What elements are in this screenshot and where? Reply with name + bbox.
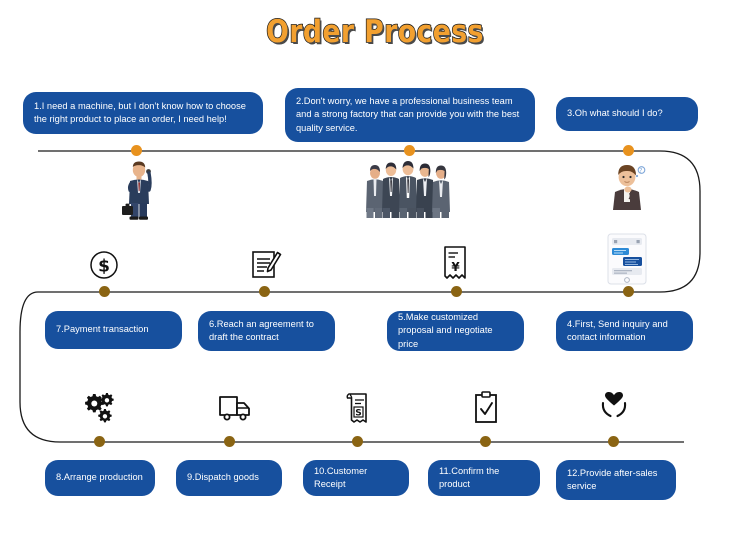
process-step-box-2[interactable]: 2.Don't worry, we have a professional bu… — [285, 88, 535, 142]
timeline-dot-6 — [259, 286, 270, 297]
process-step-box-6[interactable]: 6.Reach an agreement to draft the contra… — [198, 311, 335, 351]
svg-text:$: $ — [98, 257, 110, 277]
process-step-box-7[interactable]: 7.Payment transaction — [45, 311, 182, 349]
process-step-box-4[interactable]: 4.First, Send inquiry and contact inform… — [556, 311, 693, 351]
svg-text:?: ? — [639, 168, 642, 175]
contract-pen-icon — [249, 247, 283, 281]
process-step-box-5[interactable]: 5.Make customized proposal and negotiate… — [387, 311, 524, 351]
invoice-yen-icon: ¥ — [441, 245, 469, 283]
order-process-infographic: Order Process 1.I need a machine, but I … — [0, 0, 750, 546]
process-step-label: 8.Arrange production — [56, 471, 143, 484]
delivery-truck-icon — [218, 394, 252, 422]
businessman-on-phone-illustration — [118, 160, 160, 220]
process-step-box-3[interactable]: 3.Oh what should I do? — [556, 97, 698, 131]
process-step-box-10[interactable]: 10.Customer Receipt — [303, 460, 409, 496]
timeline-dot-1 — [131, 145, 142, 156]
process-step-label: 7.Payment transaction — [56, 323, 149, 336]
clipboard-check-icon — [472, 391, 500, 425]
process-step-label: 5.Make customized proposal and negotiate… — [398, 311, 513, 351]
timeline-dot-4 — [623, 286, 634, 297]
business-team-illustration — [363, 160, 453, 218]
timeline-dot-10 — [352, 436, 363, 447]
process-step-box-11[interactable]: 11.Confirm the product — [428, 460, 540, 496]
timeline-dot-3 — [623, 145, 634, 156]
process-step-box-8[interactable]: 8.Arrange production — [45, 460, 155, 496]
process-step-label: 10.Customer Receipt — [314, 465, 398, 491]
timeline-dot-8 — [94, 436, 105, 447]
timeline-dot-7 — [99, 286, 110, 297]
heart-in-hands-icon — [598, 392, 630, 422]
svg-text:¥: ¥ — [451, 260, 460, 274]
timeline-dot-12 — [608, 436, 619, 447]
process-step-label: 2.Don't worry, we have a professional bu… — [296, 95, 524, 135]
receipt-dollar-icon: S — [345, 392, 371, 424]
process-step-box-12[interactable]: 12.Provide after-sales service — [556, 460, 676, 500]
process-step-label: 3.Oh what should I do? — [567, 107, 663, 120]
timeline-dot-11 — [480, 436, 491, 447]
process-step-label: 11.Confirm the product — [439, 465, 529, 491]
timeline-dot-2 — [404, 145, 415, 156]
svg-text:S: S — [355, 409, 361, 419]
dollar-coin-icon: $ — [88, 249, 120, 281]
timeline-dot-5 — [451, 286, 462, 297]
process-step-box-1[interactable]: 1.I need a machine, but I don’t know how… — [23, 92, 263, 134]
chat-inquiry-icon — [605, 233, 649, 285]
thinking-person-illustration: ? — [608, 162, 654, 210]
process-step-label: 1.I need a machine, but I don’t know how… — [34, 100, 252, 126]
process-step-label: 4.First, Send inquiry and contact inform… — [567, 318, 682, 344]
process-step-box-9[interactable]: 9.Dispatch goods — [176, 460, 282, 496]
process-step-label: 9.Dispatch goods — [187, 471, 259, 484]
process-step-label: 12.Provide after-sales service — [567, 467, 665, 493]
gears-production-icon — [82, 392, 116, 424]
timeline-dot-9 — [224, 436, 235, 447]
process-step-label: 6.Reach an agreement to draft the contra… — [209, 318, 324, 344]
page-title: Order Process — [53, 14, 698, 50]
